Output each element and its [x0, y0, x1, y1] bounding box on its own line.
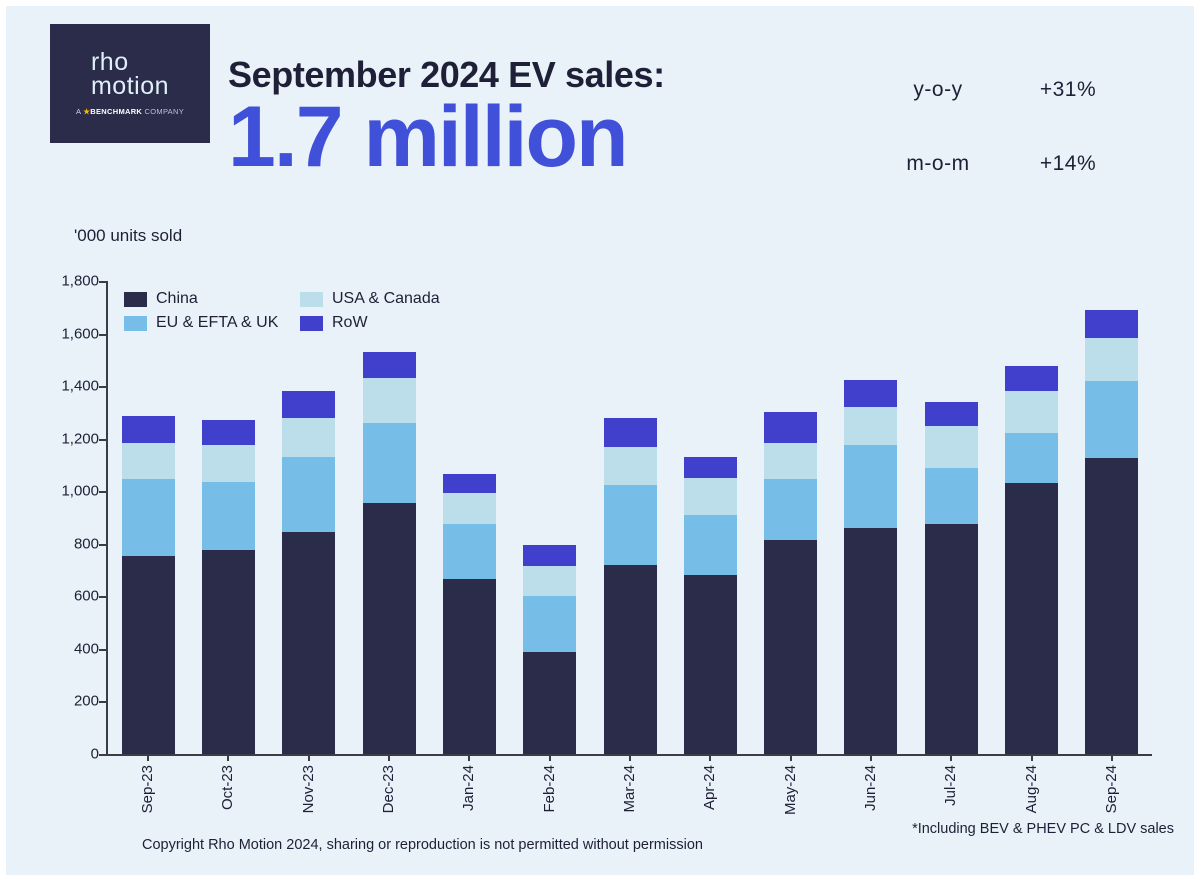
y-axis-tick-label: 600	[39, 588, 99, 605]
legend-swatch	[300, 316, 323, 331]
footnote-text: *Including BEV & PHEV PC & LDV sales	[912, 821, 1174, 837]
bar-segment-usa-canada[interactable]	[202, 445, 255, 482]
x-axis-tick-label: May-24	[782, 765, 799, 815]
bar-segment-row[interactable]	[443, 474, 496, 492]
x-axis-tick-label: Oct-23	[219, 765, 236, 810]
y-axis-tick-mark	[99, 334, 106, 336]
logo-tagline: A ★BENCHMARK COMPANY	[76, 107, 184, 116]
x-axis-tick-label: Sep-23	[139, 765, 156, 813]
y-axis-tick-mark	[99, 439, 106, 441]
stacked-bar[interactable]	[122, 416, 175, 754]
stat-label-yoy: y-o-y	[874, 78, 1002, 102]
legend-item-china[interactable]: China	[124, 287, 292, 311]
legend-swatch	[124, 292, 147, 307]
bar-segment-china[interactable]	[684, 575, 737, 754]
bar-segment-usa-canada[interactable]	[443, 493, 496, 525]
stat-label-mom: m-o-m	[874, 152, 1002, 176]
y-axis-tick-label: 1,000	[39, 483, 99, 500]
logo-tagline-brand: BENCHMARK	[90, 107, 142, 116]
bar-segment-row[interactable]	[363, 352, 416, 378]
y-axis-title: '000 units sold	[74, 226, 182, 246]
bar-segment-china[interactable]	[363, 503, 416, 754]
bar-segment-china[interactable]	[202, 550, 255, 754]
bar-segment-eu-efta-uk[interactable]	[1005, 433, 1058, 483]
x-axis-tick-label: Mar-24	[621, 765, 638, 813]
stacked-bar[interactable]	[202, 420, 255, 754]
bar-group[interactable]: Aug-24	[991, 281, 1071, 754]
legend-item-row[interactable]: RoW	[300, 311, 440, 335]
x-axis-tick-label: Feb-24	[541, 765, 558, 813]
bar-segment-usa-canada[interactable]	[1005, 391, 1058, 433]
y-axis-tick-mark	[99, 281, 106, 283]
bar-group[interactable]: Dec-23	[349, 281, 429, 754]
bar-segment-eu-efta-uk[interactable]	[604, 485, 657, 565]
y-axis-tick-mark	[99, 544, 106, 546]
x-axis-tick-mark	[308, 754, 310, 761]
x-axis-tick-label: Sep-24	[1103, 765, 1120, 813]
x-axis-tick-label: Jan-24	[460, 765, 477, 811]
headline-figure: 1.7 million	[228, 92, 665, 182]
stat-row-yoy: y-o-y +31%	[874, 78, 1134, 102]
x-axis-tick-mark	[709, 754, 711, 761]
legend-label: USA & Canada	[332, 290, 440, 308]
x-axis-tick-mark	[1031, 754, 1033, 761]
bar-segment-eu-efta-uk[interactable]	[1085, 381, 1138, 459]
bar-segment-china[interactable]	[122, 556, 175, 754]
bar-segment-china[interactable]	[282, 532, 335, 754]
bar-segment-usa-canada[interactable]	[684, 478, 737, 515]
stacked-bar[interactable]	[764, 412, 817, 754]
legend-item-usa-canada[interactable]: USA & Canada	[300, 287, 440, 311]
bar-segment-row[interactable]	[925, 402, 978, 426]
y-axis-tick-label: 200	[39, 693, 99, 710]
bar-segment-eu-efta-uk[interactable]	[122, 479, 175, 555]
bar-segment-row[interactable]	[1085, 310, 1138, 338]
stacked-bar[interactable]	[925, 402, 978, 754]
bar-group[interactable]: Mar-24	[590, 281, 670, 754]
y-axis-tick-mark	[99, 701, 106, 703]
bar-group[interactable]: Jul-24	[911, 281, 991, 754]
bar-segment-eu-efta-uk[interactable]	[844, 445, 897, 528]
y-axis-tick-label: 0	[39, 746, 99, 763]
y-axis-tick-label: 1,400	[39, 378, 99, 395]
x-axis-tick-mark	[549, 754, 551, 761]
bar-segment-row[interactable]	[684, 457, 737, 478]
stat-row-mom: m-o-m +14%	[874, 152, 1134, 176]
bar-segment-eu-efta-uk[interactable]	[764, 479, 817, 539]
bar-segment-eu-efta-uk[interactable]	[925, 468, 978, 524]
stacked-bar[interactable]	[1005, 366, 1058, 754]
bar-segment-usa-canada[interactable]	[764, 443, 817, 480]
x-axis-tick-mark	[227, 754, 229, 761]
infographic-page: rho motion A ★BENCHMARK COMPANY Septembe…	[0, 0, 1200, 881]
stat-value-yoy: +31%	[1002, 78, 1134, 102]
bar-group[interactable]: Jan-24	[429, 281, 509, 754]
stacked-bar[interactable]	[844, 380, 897, 754]
x-axis-tick-label: Apr-24	[701, 765, 718, 810]
bar-segment-china[interactable]	[604, 565, 657, 754]
y-axis-tick-mark	[99, 754, 106, 756]
bar-segment-china[interactable]	[443, 579, 496, 754]
stacked-bar[interactable]	[523, 545, 576, 754]
bar-segment-row[interactable]	[122, 416, 175, 442]
bar-segment-china[interactable]	[925, 524, 978, 754]
bar-segment-usa-canada[interactable]	[122, 443, 175, 480]
bar-segment-usa-canada[interactable]	[363, 378, 416, 423]
x-axis-tick-label: Jul-24	[942, 765, 959, 806]
stacked-bar[interactable]	[604, 418, 657, 754]
bar-segment-row[interactable]	[282, 391, 335, 417]
bar-segment-usa-canada[interactable]	[282, 418, 335, 457]
bar-segment-usa-canada[interactable]	[604, 447, 657, 485]
y-axis-tick-mark	[99, 491, 106, 493]
y-axis-tick-label: 1,600	[39, 325, 99, 342]
y-axis-tick-label: 800	[39, 535, 99, 552]
bar-segment-usa-canada[interactable]	[844, 407, 897, 445]
bar-segment-row[interactable]	[764, 412, 817, 442]
legend-label: China	[156, 290, 198, 308]
x-axis-tick-mark	[388, 754, 390, 761]
bar-segment-usa-canada[interactable]	[523, 566, 576, 596]
bar-segment-eu-efta-uk[interactable]	[443, 524, 496, 579]
x-axis-tick-label: Nov-23	[300, 765, 317, 813]
x-axis-tick-mark	[870, 754, 872, 761]
x-axis-tick-mark	[147, 754, 149, 761]
x-axis-tick-label: Aug-24	[1023, 765, 1040, 813]
plot-area: Sep-23Oct-23Nov-23Dec-23Jan-24Feb-24Mar-…	[108, 281, 1152, 754]
y-axis-tick-mark	[99, 386, 106, 388]
bar-group[interactable]: Jun-24	[831, 281, 911, 754]
chart-legend: ChinaUSA & CanadaEU & EFTA & UKRoW	[124, 287, 440, 335]
bar-segment-eu-efta-uk[interactable]	[684, 515, 737, 575]
x-axis-tick-mark	[790, 754, 792, 761]
stats-block: y-o-y +31% m-o-m +14%	[874, 78, 1134, 226]
stacked-bar[interactable]	[282, 391, 335, 754]
y-axis-tick-mark	[99, 596, 106, 598]
stacked-bar[interactable]	[1085, 310, 1138, 754]
stacked-bar[interactable]	[363, 352, 416, 754]
bar-segment-eu-efta-uk[interactable]	[202, 482, 255, 550]
stacked-bar[interactable]	[443, 474, 496, 754]
bar-group[interactable]: Apr-24	[670, 281, 750, 754]
x-axis-tick-mark	[629, 754, 631, 761]
bar-segment-eu-efta-uk[interactable]	[363, 423, 416, 503]
y-axis-tick-label: 400	[39, 640, 99, 657]
bar-segment-china[interactable]	[1085, 458, 1138, 754]
bar-segment-row[interactable]	[202, 420, 255, 445]
header-title-block: September 2024 EV sales: 1.7 million	[228, 54, 665, 182]
y-axis-tick-label: 1,800	[39, 273, 99, 290]
bar-segment-usa-canada[interactable]	[1085, 338, 1138, 381]
bar-group[interactable]: Oct-23	[188, 281, 268, 754]
x-axis-tick-mark	[468, 754, 470, 761]
y-axis-tick-mark	[99, 649, 106, 651]
legend-label: EU & EFTA & UK	[156, 314, 278, 332]
bar-segment-row[interactable]	[523, 545, 576, 566]
logo-line-motion: motion	[91, 75, 169, 99]
x-axis-tick-mark	[1111, 754, 1113, 761]
logo-wordmark: rho motion	[91, 51, 169, 99]
y-axis-tick-label: 1,200	[39, 430, 99, 447]
legend-label: RoW	[332, 314, 368, 332]
bar-segment-china[interactable]	[844, 528, 897, 754]
legend-swatch	[124, 316, 147, 331]
bar-group[interactable]: Feb-24	[510, 281, 590, 754]
legend-item-eu-efta-uk[interactable]: EU & EFTA & UK	[124, 311, 292, 335]
bar-segment-china[interactable]	[523, 652, 576, 754]
x-axis-tick-label: Dec-23	[380, 765, 397, 813]
bar-segment-china[interactable]	[1005, 483, 1058, 754]
copyright-text: Copyright Rho Motion 2024, sharing or re…	[142, 837, 703, 853]
bar-segment-row[interactable]	[844, 380, 897, 408]
rho-motion-logo: rho motion A ★BENCHMARK COMPANY	[50, 24, 210, 143]
stacked-bar-chart: 02004006008001,0001,2001,4001,6001,800 S…	[106, 281, 1152, 756]
bar-group[interactable]: Sep-24	[1072, 281, 1152, 754]
bar-group[interactable]: Sep-23	[108, 281, 188, 754]
stacked-bar[interactable]	[684, 457, 737, 754]
bar-segment-eu-efta-uk[interactable]	[523, 596, 576, 651]
bar-segment-china[interactable]	[764, 540, 817, 754]
x-axis-tick-mark	[950, 754, 952, 761]
bar-group[interactable]: Nov-23	[269, 281, 349, 754]
x-axis-tick-label: Jun-24	[862, 765, 879, 811]
logo-tagline-suffix: COMPANY	[142, 107, 184, 116]
bar-segment-usa-canada[interactable]	[925, 426, 978, 468]
stat-value-mom: +14%	[1002, 152, 1134, 176]
bar-segment-row[interactable]	[1005, 366, 1058, 391]
bar-group[interactable]: May-24	[751, 281, 831, 754]
bar-segment-eu-efta-uk[interactable]	[282, 457, 335, 532]
logo-line-rho: rho	[91, 51, 169, 75]
bar-segment-row[interactable]	[604, 418, 657, 447]
legend-swatch	[300, 292, 323, 307]
